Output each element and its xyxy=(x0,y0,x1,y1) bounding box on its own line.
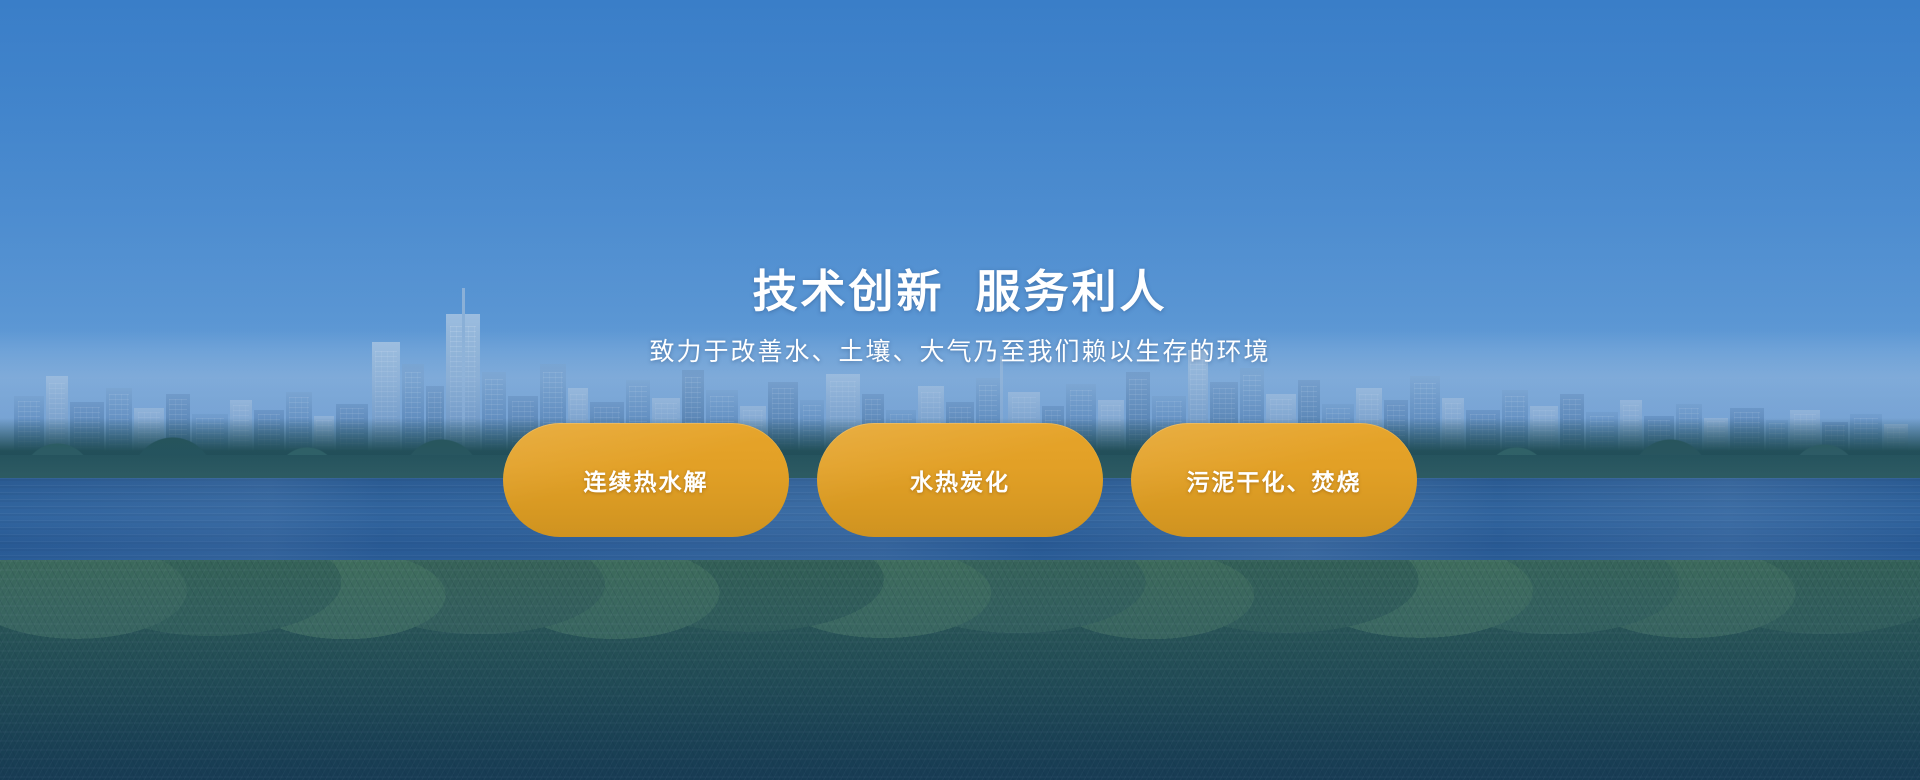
hero-banner: 技术创新 服务利人 致力于改善水、土壤、大气乃至我们赖以生存的环境 连续热水解 … xyxy=(0,0,1920,780)
service-button-continuous-thermal-hydrolysis[interactable]: 连续热水解 xyxy=(503,423,789,537)
service-button-label: 连续热水解 xyxy=(584,463,709,497)
service-button-row: 连续热水解 水热炭化 污泥干化、焚烧 xyxy=(503,423,1417,537)
page-title: 技术创新 服务利人 xyxy=(752,265,1167,318)
service-button-sludge-drying-incineration[interactable]: 污泥干化、焚烧 xyxy=(1131,423,1417,537)
page-subtitle: 致力于改善水、土壤、大气乃至我们赖以生存的环境 xyxy=(649,336,1270,369)
service-button-label: 污泥干化、焚烧 xyxy=(1187,463,1362,497)
service-button-label: 水热炭化 xyxy=(910,463,1010,497)
service-button-hydrothermal-carbonization[interactable]: 水热炭化 xyxy=(817,423,1103,537)
hero-content: 技术创新 服务利人 致力于改善水、土壤、大气乃至我们赖以生存的环境 连续热水解 … xyxy=(0,0,1920,780)
